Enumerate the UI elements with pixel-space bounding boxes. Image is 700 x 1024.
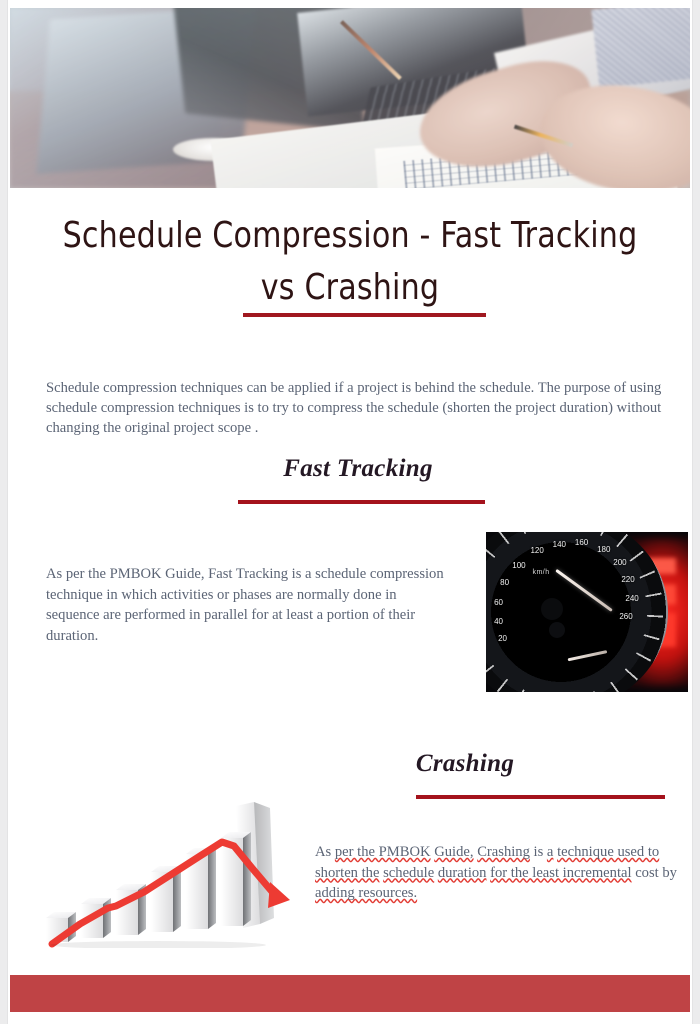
speedometer-tick-label-200: 200 [613, 558, 626, 567]
speedometer-photo: km/h 20 40 60 80 100 120 140 160 180 200… [486, 532, 688, 692]
spellcheck-flagged-text: adding resources. [315, 885, 417, 901]
body-text-run: cost by [632, 865, 677, 881]
hero-image [10, 8, 690, 188]
hero-color-tint [10, 8, 690, 188]
page-canvas: Schedule Compression - Fast Tracking vs … [8, 0, 692, 1024]
speedometer-tick-label-60: 60 [494, 598, 503, 607]
speedometer-tick-label-220: 220 [621, 575, 634, 584]
speedometer-tick-label-260: 260 [619, 612, 632, 621]
speedometer-tick-label-160: 160 [575, 538, 588, 547]
page-title-line-1: Schedule Compression - Fast Tracking [54, 210, 645, 262]
speedometer-tick-label-120: 120 [530, 546, 543, 555]
title-underline-rule [243, 313, 486, 317]
spellcheck-flagged-text: Guide, [434, 844, 473, 860]
spellcheck-flagged-text: per the PMBOK [335, 844, 431, 860]
spellcheck-flagged-text: schedule [383, 865, 434, 881]
body-text-run: As [315, 844, 335, 860]
page-title-line-2: vs Crashing [54, 262, 645, 314]
speedometer-tick-marks [486, 532, 668, 692]
growth-bar-chart-graphic [38, 798, 306, 948]
speedometer-unit-label: km/h [532, 569, 549, 576]
crashing-body-text: As per the PMBOK Guide, Crashing is a te… [315, 842, 687, 904]
speedometer-tick-label-40: 40 [494, 617, 503, 626]
speedometer-tick-label-180: 180 [597, 545, 610, 554]
spellcheck-flagged-text: duration [438, 865, 487, 881]
speedometer-tick-label-80: 80 [500, 578, 509, 587]
section-heading-fast-tracking: Fast Tracking [8, 455, 700, 483]
speedometer-tick-label-20: 20 [498, 634, 507, 643]
spellcheck-flagged-text: Crashing [477, 844, 530, 860]
bar-chart-shadow [50, 941, 266, 948]
fast-tracking-body-text: As per the PMBOK Guide, Fast Tracking is… [46, 564, 446, 646]
speedometer-tick-label-240: 240 [625, 594, 638, 603]
speedometer-hub-secondary [549, 622, 565, 638]
speedometer-tick-label-140: 140 [553, 540, 566, 549]
spellcheck-flagged-text: for the least incremental [490, 865, 631, 881]
section-heading-crashing: Crashing [8, 750, 700, 778]
footer-accent-bar [10, 975, 690, 1012]
bar-chart-svg [38, 798, 306, 948]
intro-paragraph: Schedule compression techniques can be a… [46, 378, 666, 439]
speedometer-hub [541, 598, 563, 620]
body-text-run: is [530, 844, 547, 860]
section-divider-crashing [416, 795, 665, 799]
page-title: Schedule Compression - Fast Tracking vs … [32, 210, 668, 314]
section-divider-fast-tracking [238, 500, 485, 504]
speedometer-tick-label-100: 100 [512, 561, 525, 570]
